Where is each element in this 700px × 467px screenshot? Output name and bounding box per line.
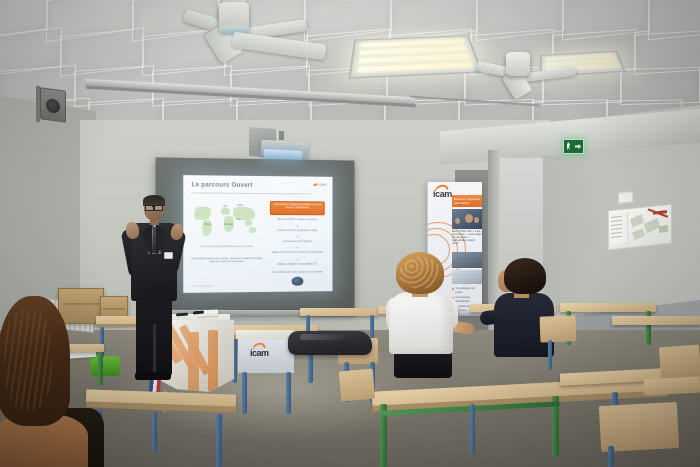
slide-divider (191, 192, 311, 194)
slide-footer: Icam – site de Nantes (191, 285, 213, 287)
flow-step: 3 années de cycle ingénieur (268, 240, 327, 243)
map-label: Sénégal (224, 223, 233, 226)
map-label: Chine (237, 204, 243, 207)
desk-leg (216, 414, 222, 467)
emergency-exit-sign (563, 139, 584, 154)
projected-slide: Le parcours Ouvert icam Lille Chine Inde… (183, 175, 332, 293)
wall-note (618, 191, 633, 204)
desk-leg (470, 404, 475, 454)
flow-arrow-icon: ▼ (296, 236, 300, 239)
flow-step: Stages en entreprise et semestre à l'int… (268, 251, 327, 254)
desk-leg (152, 412, 157, 452)
desk-leg (286, 372, 291, 414)
chair-back (540, 315, 577, 342)
slide-map-caption-2: Une formation ouverte sur le monde : sem… (190, 258, 263, 264)
banner-photo-classroom (452, 209, 482, 229)
projector-lens (264, 149, 302, 160)
desk-leg (242, 372, 247, 414)
globe-icon (292, 277, 304, 286)
glasses-icon (154, 205, 163, 211)
classroom-photo: Le parcours Ouvert icam Lille Chine Inde… (0, 0, 700, 467)
ceiling-fan-right (480, 52, 570, 98)
slide-icam-logo: icam (313, 183, 326, 187)
campus-map-poster (608, 204, 672, 251)
chair-back (339, 369, 375, 402)
icam-desk-wordmark: icam (250, 348, 269, 358)
ceiling-light-panel (348, 35, 483, 79)
chair-leg (608, 446, 614, 467)
flow-arrow-icon: ▼ (296, 259, 300, 262)
chair-seat (644, 377, 700, 396)
student-long-brown-hair (0, 296, 108, 467)
name-badge (164, 252, 173, 259)
banner-logo: icam (433, 189, 452, 199)
student-hair (396, 252, 444, 294)
desk (236, 330, 294, 339)
student-white-tshirt (392, 252, 480, 382)
wall-speaker (40, 87, 66, 123)
desk (300, 308, 378, 316)
banner-headline: Devenez ingénieur généraliste (452, 195, 482, 207)
world-map-graphic: Lille Chine Inde Brésil Sénégal (192, 201, 261, 242)
desk (612, 316, 700, 325)
map-label: Lille (223, 205, 227, 208)
projector-arm (279, 131, 284, 140)
presenter (123, 196, 185, 386)
student-hair (0, 296, 70, 426)
slide-title: Le parcours Ouvert (191, 181, 252, 189)
map-label: Brésil (205, 223, 211, 226)
chair-leg (548, 340, 552, 370)
slide-map-caption: Un réseau de campus en France et dans le… (190, 246, 263, 249)
student-hair (504, 258, 546, 294)
chair-back (659, 345, 700, 380)
flow-arrow-icon: ▼ (296, 225, 300, 228)
flow-step: 2 années de cycle préparatoire intégré (268, 229, 327, 232)
map-label: Inde (236, 218, 241, 221)
flow-final-label: Un parcours ouvert sur le monde et sur l… (270, 271, 325, 274)
flow-step: Bac S ou STI2D – dossier et entretien (268, 218, 327, 221)
flow-step: Diplôme d'ingénieur Icam habilité CTI (268, 263, 327, 266)
backpack-highlight (300, 334, 346, 340)
chair-back (599, 402, 679, 452)
flow-arrow-icon: ▼ (296, 247, 300, 250)
banner-body-text: Bac S, STI2D, ATS — 5 ans après le bac —… (452, 231, 482, 246)
slide-orange-callout: Une formation d'ingénieur généraliste en… (270, 201, 325, 215)
